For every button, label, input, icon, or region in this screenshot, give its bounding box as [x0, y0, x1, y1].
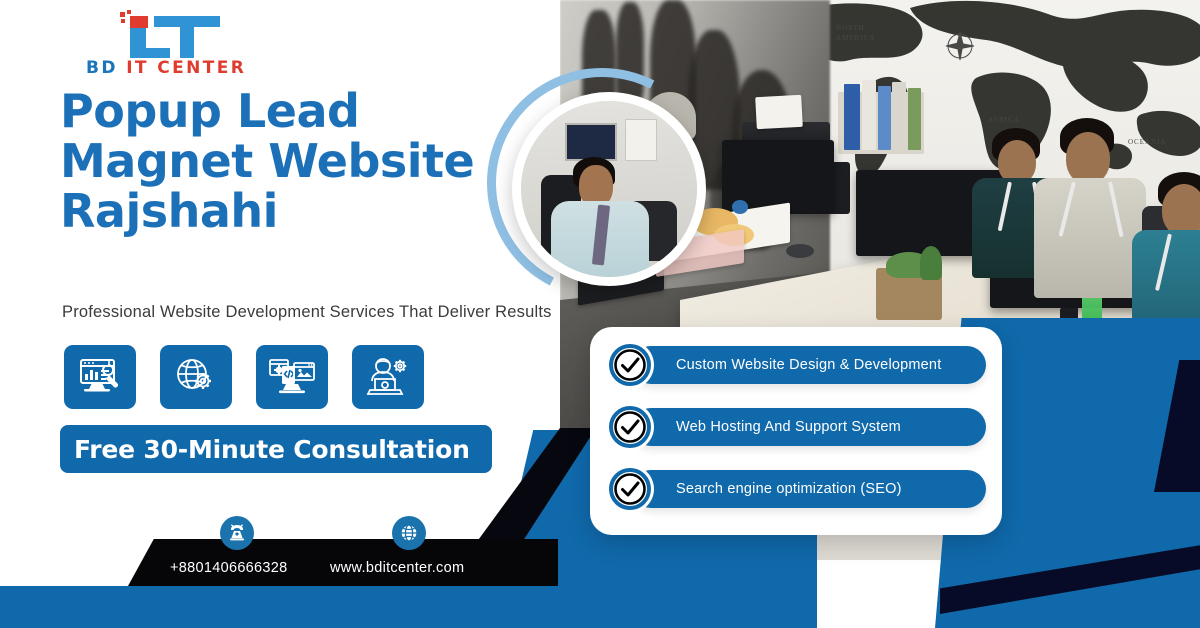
support-agent-icon[interactable] [352, 345, 424, 409]
brand-name-itcenter: IT CENTER [126, 58, 246, 78]
bottom-blue-bar [0, 586, 600, 628]
globe-icon[interactable] [392, 516, 426, 550]
contact-row: +8801406666328 www.bditcenter.com [170, 516, 570, 586]
brand-name-bd: BD [86, 58, 118, 78]
cta-label: Free 30-Minute Consultation [74, 435, 470, 464]
page-subtitle: Professional Website Development Service… [62, 303, 552, 322]
portrait-photo [512, 92, 706, 286]
feature-pill[interactable]: Web Hosting And Support System [632, 408, 986, 446]
check-circle-icon [606, 341, 654, 389]
page-title: Popup Lead Magnet Website Rajshahi [60, 86, 530, 236]
promo-banner: NORTHAMERICA SOUTHAMERICA AFRICA OCEANIA [0, 0, 1200, 628]
check-circle-icon [606, 465, 654, 513]
cta-button[interactable]: Free 30-Minute Consultation [60, 425, 492, 473]
web-development-icon[interactable] [256, 345, 328, 409]
svg-text:OCEANIA: OCEANIA [1128, 138, 1167, 146]
brand-name: BD IT CENTER [86, 58, 246, 78]
feature-label: Search engine optimization (SEO) [676, 481, 902, 497]
analytics-maintenance-icon[interactable] [64, 345, 136, 409]
check-circle-icon [606, 403, 654, 451]
feature-list-card: Custom Website Design & Development Web … [590, 327, 1002, 535]
feature-item: Custom Website Design & Development [606, 341, 986, 389]
feature-label: Web Hosting And Support System [676, 419, 901, 435]
svg-text:AFRICA: AFRICA [988, 116, 1020, 124]
feature-item: Web Hosting And Support System [606, 403, 986, 451]
lt-monogram-icon [114, 10, 234, 58]
contact-website[interactable]: www.bditcenter.com [330, 560, 464, 576]
feature-item: Search engine optimization (SEO) [606, 465, 986, 513]
feature-label: Custom Website Design & Development [676, 357, 941, 373]
contact-phone[interactable]: +8801406666328 [170, 560, 288, 576]
svg-text:AMERICA: AMERICA [836, 34, 875, 42]
telephone-icon[interactable] [220, 516, 254, 550]
globe-gear-icon[interactable] [160, 345, 232, 409]
svg-text:NORTH: NORTH [836, 24, 865, 32]
service-icon-row [64, 345, 424, 409]
feature-pill[interactable]: Custom Website Design & Development [632, 346, 986, 384]
brand-logo[interactable]: BD IT CENTER [86, 8, 266, 78]
feature-pill[interactable]: Search engine optimization (SEO) [632, 470, 986, 508]
